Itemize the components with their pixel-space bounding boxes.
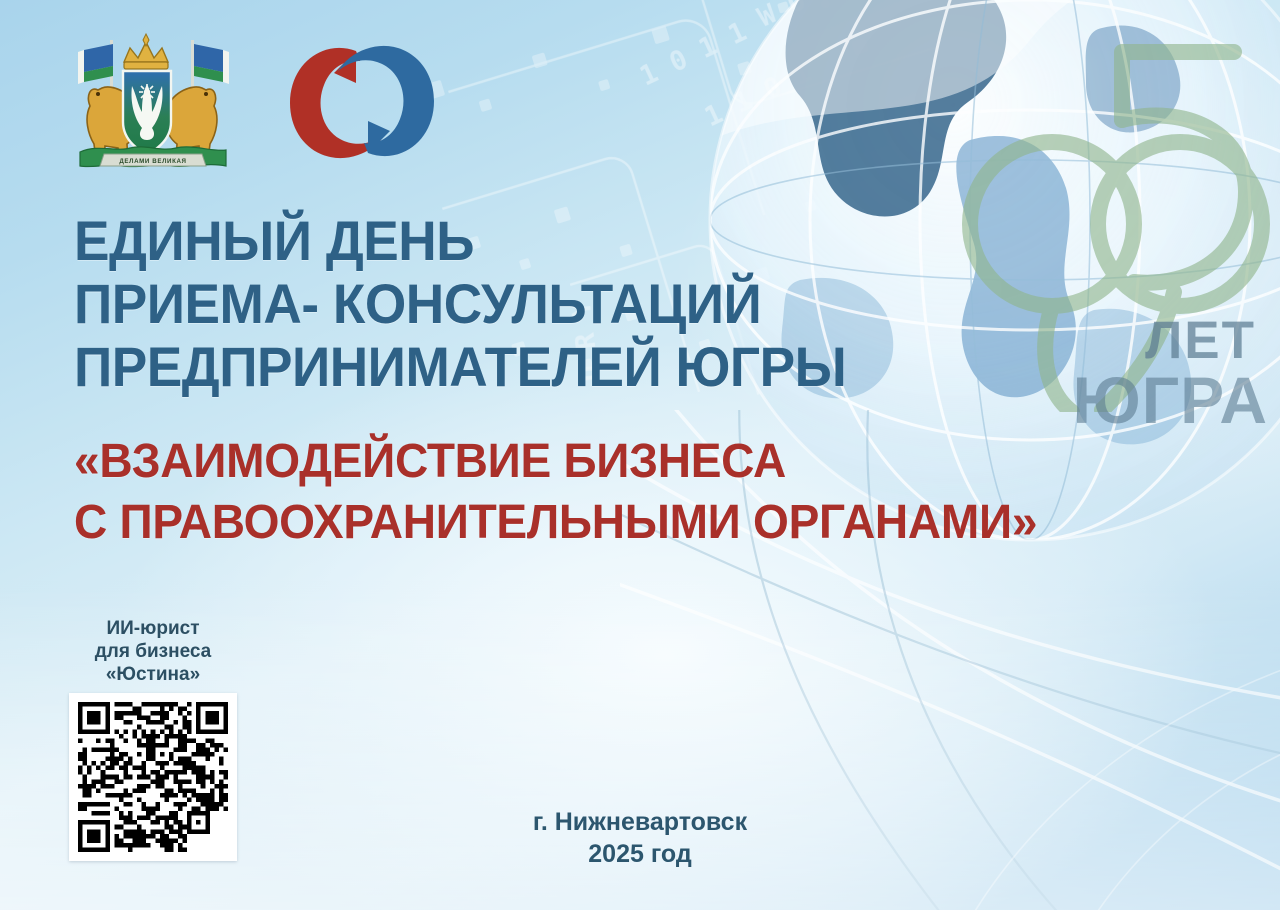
organization-logo-icon: [272, 27, 452, 177]
svg-text:1 0 1 1: 1 0 1 1: [635, 16, 751, 92]
footer-city: г. Нижневартовск: [0, 806, 1280, 838]
qr-label: ИИ-юрист для бизнеса «Юстина»: [62, 618, 244, 686]
qr-label-line-2: для бизнеса: [62, 641, 244, 664]
anniversary-let-label: ЛЕТ: [1145, 310, 1256, 371]
svg-text:W O R L D: W O R L D: [753, 0, 899, 33]
svg-text:1 1 0 1: 1 1 0 1: [700, 57, 816, 133]
svg-text:0 1 1 0: 0 1 1 0: [691, 0, 807, 2]
emblems-row: ДЕЛАМИ ВЕЛИКАЯ: [68, 26, 452, 178]
subheadline-line-1: «ВЗАИМОДЕЙСТВИЕ БИЗНЕСА: [74, 437, 1216, 488]
qr-label-line-3: «Юстина»: [62, 664, 244, 687]
coat-of-arms-yugra-icon: ДЕЛАМИ ВЕЛИКАЯ: [68, 26, 236, 178]
poster-headline: ЕДИНЫЙ ДЕНЬ ПРИЕМА- КОНСУЛЬТАЦИЙ ПРЕДПРИ…: [74, 212, 1024, 401]
svg-text:ДЕЛАМИ ВЕЛИКАЯ: ДЕЛАМИ ВЕЛИКАЯ: [119, 158, 186, 165]
poster-canvas: 0 1 1 0 1 0 1 1 W O R L D 1 1 0 1 D R Y: [0, 0, 1280, 910]
poster-subheadline: «ВЗАИМОДЕЙСТВИЕ БИЗНЕСА С ПРАВООХРАНИТЕЛ…: [74, 437, 1216, 559]
qr-label-line-1: ИИ-юрист: [62, 618, 244, 641]
anniversary-ugra-label: ЮГРА: [1073, 362, 1268, 438]
poster-footer: г. Нижневартовск 2025 год: [0, 806, 1280, 870]
headline-line-2: ПРИЕМА- КОНСУЛЬТАЦИЙ: [74, 275, 1024, 332]
subheadline-line-2: С ПРАВООХРАНИТЕЛЬНЫМИ ОРГАНАМИ»: [74, 498, 1216, 549]
headline-line-3: ПРЕДПРИНИМАТЕЛЕЙ ЮГРЫ: [74, 338, 1024, 395]
footer-year: 2025 год: [0, 838, 1280, 870]
headline-line-1: ЕДИНЫЙ ДЕНЬ: [74, 212, 1024, 269]
